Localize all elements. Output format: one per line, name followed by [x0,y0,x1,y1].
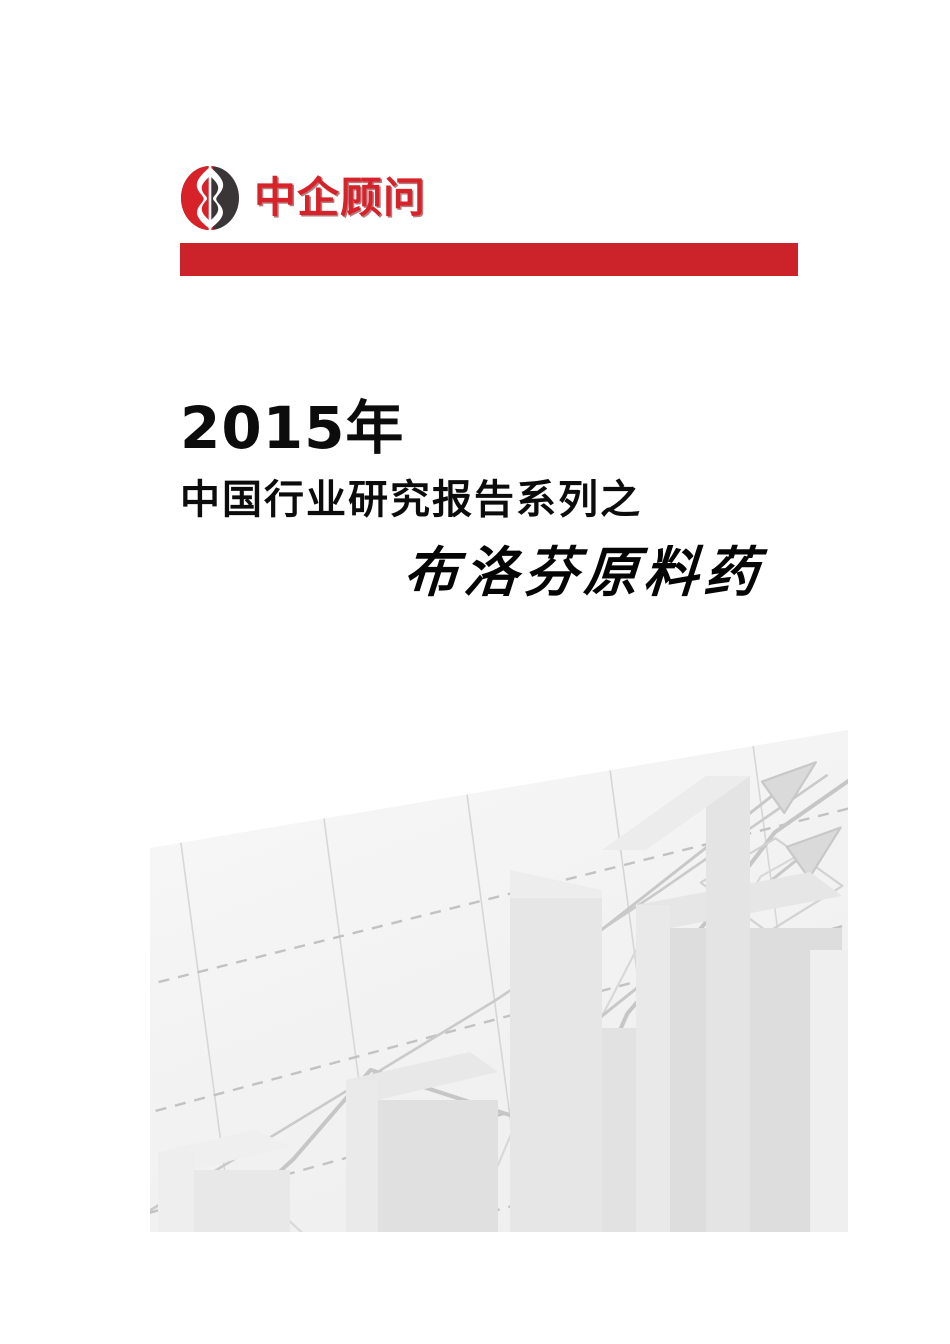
brand-red-rule [180,243,798,276]
report-year: 2015年 [180,398,820,459]
zhongqi-guwen-circle-logo-icon [180,165,240,231]
report-subject: 布洛芬原料药 [178,543,822,602]
title-block: 2015年 中国行业研究报告系列之 布洛芬原料药 [180,398,820,602]
brand-name: 中企顾问 [254,177,426,219]
growth-chart-cityscape-watermark [150,700,848,1232]
masthead: 中企顾问 [180,160,800,280]
report-series-line: 中国行业研究报告系列之 [180,477,820,523]
hero-art-svg [150,700,848,1232]
report-cover-page: 中企顾问 2015年 中国行业研究报告系列之 布洛芬原料药 [0,0,950,1344]
brand-row: 中企顾问 [180,160,426,236]
